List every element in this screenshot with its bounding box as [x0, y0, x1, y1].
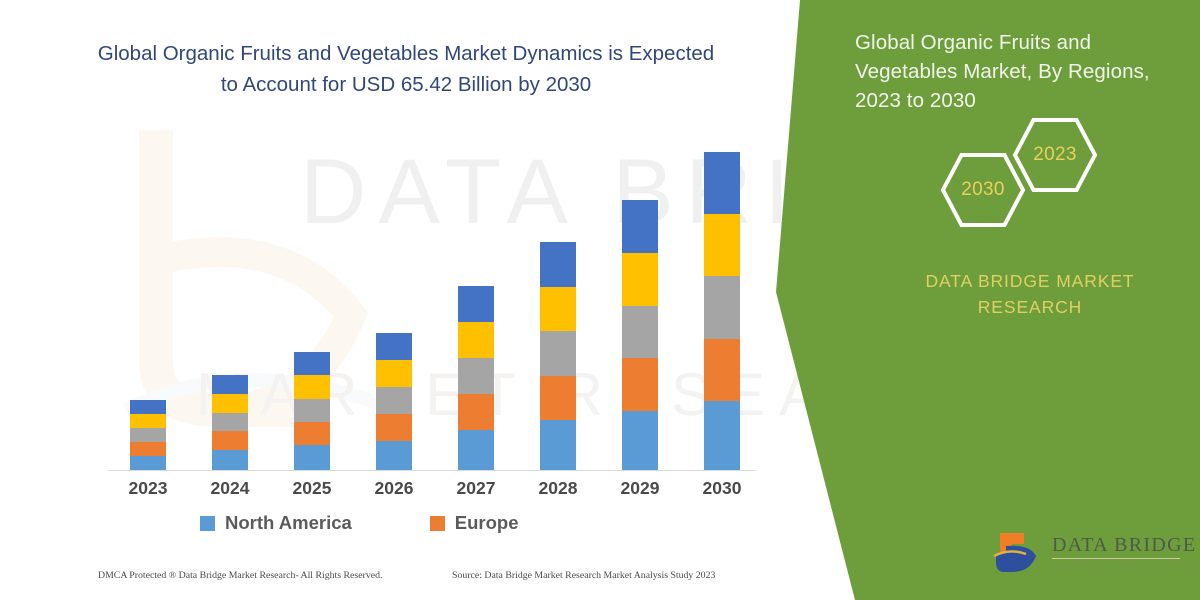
hexagon-label-2023: 2023 [1033, 144, 1076, 166]
bar-2024[interactable] [212, 375, 248, 470]
bar-segment-2025-5 [294, 352, 330, 375]
bar-segment-2024-1 [212, 450, 248, 470]
bar-segment-2026-4 [376, 360, 412, 387]
data-bridge-logo: DATA BRIDGE MARKET RESEARCH [990, 528, 1190, 584]
bar-segment-2027-2 [458, 394, 494, 430]
panel-heading: Global Organic Fruits and Vegetables Mar… [855, 28, 1195, 115]
bar-segment-2027-5 [458, 286, 494, 322]
x-axis-labels: 20232024202520262027202820292030 [96, 478, 756, 504]
bar-segment-2028-1 [540, 420, 576, 470]
bar-segment-2024-4 [212, 394, 248, 413]
bar-segment-2028-4 [540, 287, 576, 332]
chart-baseline [108, 470, 756, 471]
bar-2025[interactable] [294, 352, 330, 470]
bar-segment-2025-1 [294, 445, 330, 470]
bar-segment-2024-5 [212, 375, 248, 394]
logo-subtitle: MARKET RESEARCH [1052, 561, 1200, 572]
legend-swatch-icon [200, 516, 215, 531]
x-axis-label-2024: 2024 [190, 478, 270, 499]
bar-segment-2029-1 [622, 411, 658, 470]
bar-segment-2026-5 [376, 333, 412, 360]
legend-item[interactable]: Europe [430, 512, 519, 534]
legend-label: Europe [455, 512, 519, 534]
x-axis-label-2029: 2029 [600, 478, 680, 499]
bar-2028[interactable] [540, 242, 576, 470]
bar-segment-2030-4 [704, 214, 740, 276]
x-axis-label-2028: 2028 [518, 478, 598, 499]
bar-segment-2025-3 [294, 399, 330, 422]
logo-mark-icon [990, 530, 1046, 580]
footer-dmca: DMCA Protected ® Data Bridge Market Rese… [98, 570, 382, 581]
bar-segment-2026-3 [376, 387, 412, 414]
bar-segment-2028-2 [540, 376, 576, 421]
bar-segment-2023-1 [130, 456, 166, 470]
bar-segment-2027-1 [458, 430, 494, 470]
bar-2027[interactable] [458, 286, 494, 470]
bar-segment-2027-3 [458, 358, 494, 394]
bar-segment-2028-3 [540, 331, 576, 376]
bar-segment-2024-2 [212, 431, 248, 450]
hexagon-label-2030: 2030 [961, 179, 1004, 201]
logo-text-block: DATA BRIDGE MARKET RESEARCH [1052, 534, 1200, 572]
bar-segment-2023-2 [130, 442, 166, 456]
bar-segment-2025-4 [294, 375, 330, 398]
bar-segment-2029-5 [622, 200, 658, 253]
page-title: Global Organic Fruits and Vegetables Mar… [96, 38, 716, 100]
bar-segment-2030-1 [704, 401, 740, 470]
bar-segment-2028-5 [540, 242, 576, 287]
bar-segment-2023-3 [130, 428, 166, 442]
x-axis-label-2026: 2026 [354, 478, 434, 499]
bar-segment-2026-2 [376, 414, 412, 441]
x-axis-label-2027: 2027 [436, 478, 516, 499]
hexagon-badge-2023: 2023 [1012, 117, 1098, 193]
bar-segment-2025-2 [294, 422, 330, 445]
logo-title: DATA BRIDGE [1052, 534, 1200, 557]
logo-divider [1052, 558, 1180, 559]
legend-item[interactable]: North America [200, 512, 352, 534]
bar-segment-2023-4 [130, 414, 166, 428]
infographic-canvas: DATA BRIDGE MARKET RESEARCH Global Organ… [0, 0, 1200, 600]
bar-segment-2030-5 [704, 152, 740, 214]
bar-segment-2030-2 [704, 339, 740, 401]
bar-segment-2029-2 [622, 358, 658, 411]
bar-segment-2027-4 [458, 322, 494, 358]
bar-2029[interactable] [622, 200, 658, 470]
bar-segment-2026-1 [376, 441, 412, 470]
bar-segment-2023-5 [130, 400, 166, 414]
chart-legend: North AmericaEurope [200, 512, 519, 534]
legend-label: North America [225, 512, 352, 534]
bar-segment-2029-3 [622, 306, 658, 359]
x-axis-label-2023: 2023 [108, 478, 188, 499]
bar-segment-2029-4 [622, 253, 658, 306]
bar-2026[interactable] [376, 333, 412, 470]
brand-name: DATA BRIDGE MARKET RESEARCH [880, 268, 1180, 320]
bar-2023[interactable] [130, 400, 166, 470]
x-axis-label-2025: 2025 [272, 478, 352, 499]
bar-2030[interactable] [704, 152, 740, 470]
bar-segment-2024-3 [212, 413, 248, 432]
bar-segment-2030-3 [704, 276, 740, 338]
chart-plot-area [96, 120, 756, 472]
x-axis-label-2030: 2030 [682, 478, 762, 499]
footer-source: Source: Data Bridge Market Research Mark… [452, 570, 715, 581]
footer: DMCA Protected ® Data Bridge Market Rese… [0, 566, 780, 592]
legend-swatch-icon [430, 516, 445, 531]
